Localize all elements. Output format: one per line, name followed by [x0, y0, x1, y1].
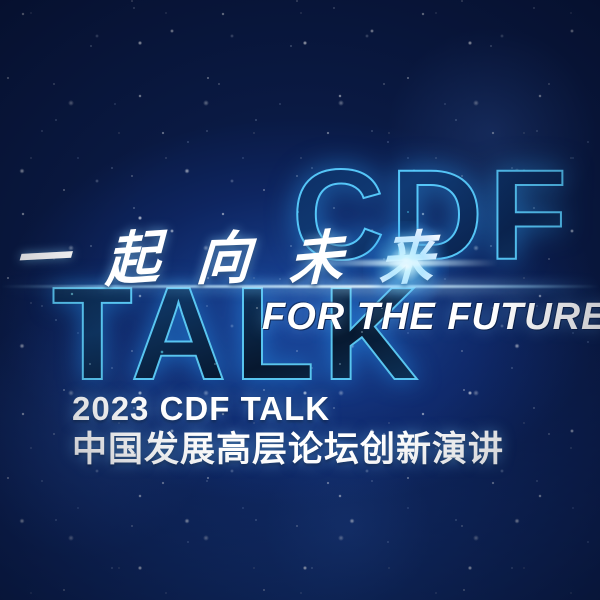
cdf-talk-poster: CDF TALK 一 起 向 未 来 FOR THE FUTURE 2023 C…: [0, 0, 600, 600]
vignette-overlay: [0, 0, 600, 600]
